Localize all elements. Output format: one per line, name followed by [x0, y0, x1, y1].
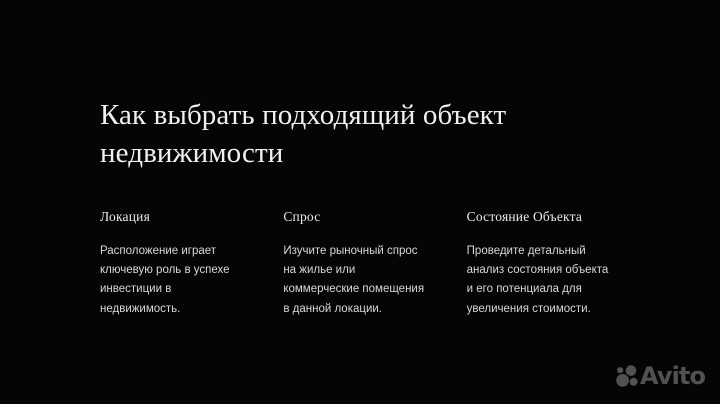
- column-heading: Состояние Объекта: [467, 209, 620, 225]
- column-body: Расположение играет ключевую роль в успе…: [100, 242, 253, 319]
- avito-wordmark: Avito: [640, 364, 705, 388]
- page-title: Как выбрать подходящий объект недвижимос…: [100, 96, 620, 172]
- feature-columns: Локация Расположение играет ключевую рол…: [100, 209, 620, 319]
- avito-dots-icon: [615, 364, 639, 388]
- column-body: Проведите детальный анализ состояния объ…: [467, 242, 620, 319]
- slide-content: Как выбрать подходящий объект недвижимос…: [100, 96, 620, 319]
- avito-watermark: Avito: [615, 364, 705, 388]
- feature-column-demand: Спрос Изучите рыночный спрос на жилье ил…: [283, 209, 436, 319]
- column-heading: Спрос: [283, 209, 436, 225]
- column-body: Изучите рыночный спрос на жилье или комм…: [283, 242, 436, 319]
- column-heading: Локация: [100, 209, 253, 225]
- feature-column-location: Локация Расположение играет ключевую рол…: [100, 209, 253, 319]
- slide-canvas: Как выбрать подходящий объект недвижимос…: [0, 0, 720, 404]
- feature-column-condition: Состояние Объекта Проведите детальный ан…: [467, 209, 620, 319]
